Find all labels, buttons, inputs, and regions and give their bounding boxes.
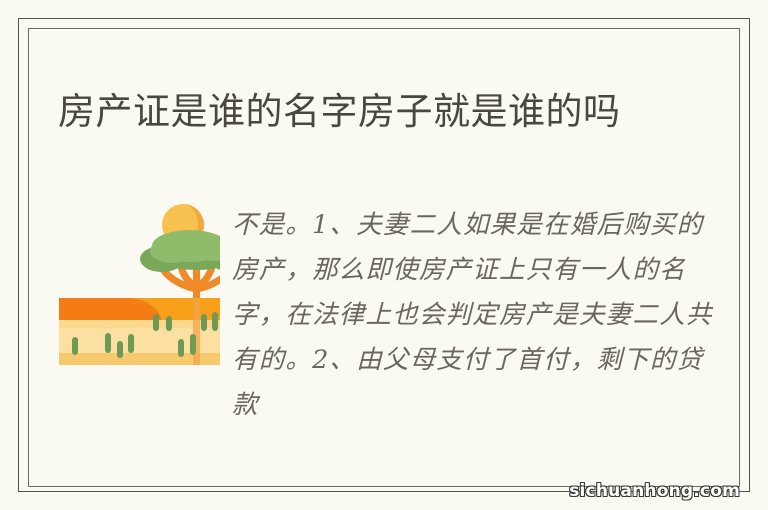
card-content: 房产证是谁的名字房子就是谁的吗	[0, 0, 768, 510]
site-watermark: sichuanhong.com	[569, 481, 740, 501]
article-card: 房产证是谁的名字房子就是谁的吗	[0, 0, 768, 510]
article-body-row: 不是。1、夫妻二人如果是在婚后购买的房产，那么即使房产证上只有一人的名字，在法律…	[50, 193, 720, 428]
article-paragraph: 不是。1、夫妻二人如果是在婚后购买的房产，那么即使房产证上只有一人的名字，在法律…	[232, 203, 720, 428]
page-title: 房产证是谁的名字房子就是谁的吗	[58, 87, 668, 137]
savanna-illustration	[50, 193, 220, 373]
article-text: 不是。1、夫妻二人如果是在婚后购买的房产，那么即使房产证上只有一人的名字，在法律…	[232, 193, 720, 428]
savanna-acacia-tree-icon	[50, 193, 220, 373]
